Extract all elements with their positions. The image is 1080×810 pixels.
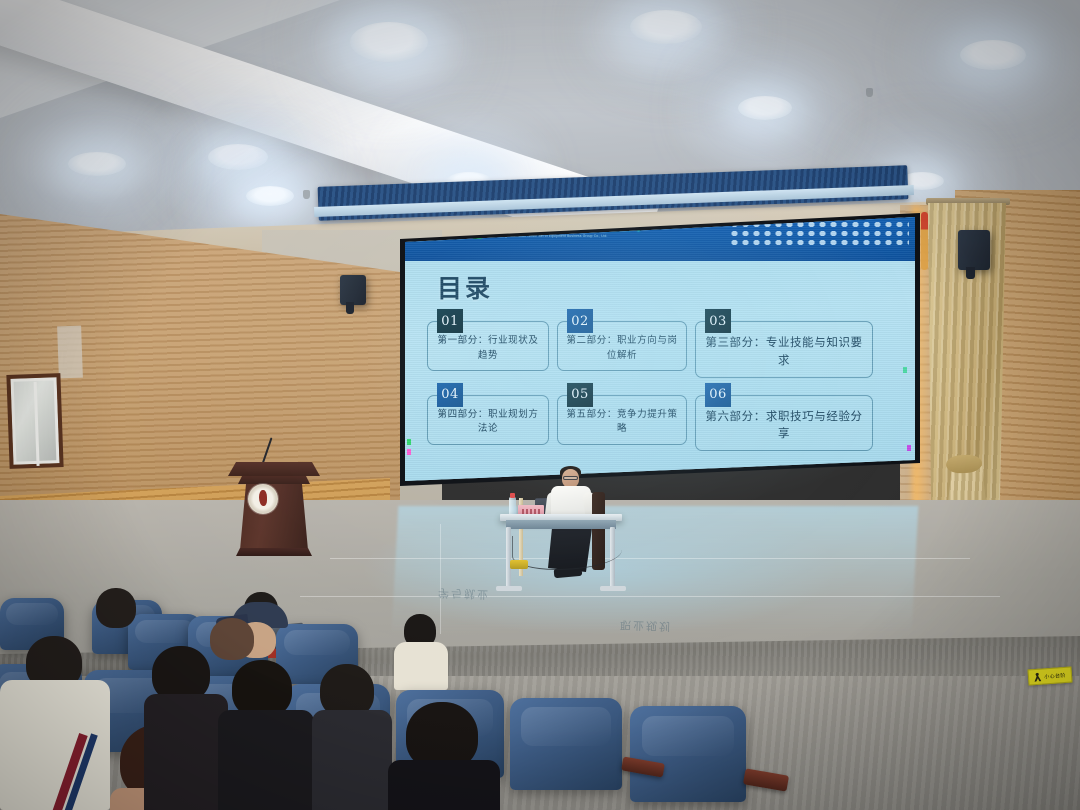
floor-seam [300,596,1000,597]
led-screen[interactable]: 4WK2HY 昆明自动化成套集团股份有限公司 Kunming Automatio… [405,217,915,481]
side-window [6,373,63,469]
toc-item[interactable]: 05 第五部分：竞争力提升策略 [557,383,687,452]
audience-body [218,710,314,810]
ceiling-light-icon [208,144,268,170]
toc-number: 05 [567,383,593,407]
ceiling-light-icon [738,96,792,120]
presentation-slide: 4WK2HY 昆明自动化成套集团股份有限公司 Kunming Automatio… [405,217,915,481]
toc-number: 03 [705,309,731,333]
seat[interactable] [510,698,622,790]
floor-reflected-text: 学与就业 [438,585,491,603]
toc-label: 第三部分：专业技能与知识要求 [702,334,866,370]
podium-top [228,462,320,476]
caution-icon [1034,672,1043,682]
desk-foot [600,586,626,591]
screen-pixel-artifact [907,445,911,451]
floor-seam [330,558,970,559]
wall-speaker-right [958,230,990,270]
ceiling-light-icon [960,40,1026,70]
toc-item[interactable]: 01 第一部分：行业现状及趋势 [427,309,549,378]
podium-neck [238,476,310,484]
toc-number: 02 [567,309,593,333]
podium-emblem-icon [248,484,278,514]
screen-pixel-artifact [903,367,907,373]
ceiling-light-icon [630,10,702,44]
wall-patch [57,326,83,379]
screen-pixel-artifact [407,439,411,445]
toc-number: 06 [705,383,731,407]
glasses-icon [563,476,578,480]
floor-seam [440,524,441,634]
toc-label: 第六部分：求职技巧与经验分享 [702,408,866,444]
audience-body [394,642,448,690]
audience-head [210,618,254,660]
audience-body [388,760,500,810]
decorative-tassel [921,212,928,270]
toc-label: 第二部分：职业方向与岗位解析 [564,334,680,363]
toc-item[interactable]: 03 第三部分：专业技能与知识要求 [695,309,873,378]
toc-item[interactable]: 02 第二部分：职业方向与岗位解析 [557,309,687,378]
sprinkler-icon [866,88,873,97]
podium-base [236,548,312,556]
desk-leg [506,527,511,589]
caution-step-sign: 小心台阶 [1027,666,1072,685]
lecture-hall-photo: 4WK2HY 昆明自动化成套集团股份有限公司 Kunming Automatio… [0,0,1080,810]
ceiling-light-icon [350,22,428,62]
toc-item[interactable]: 06 第六部分：求职技巧与经验分享 [695,383,873,452]
slide-title: 目录 [437,269,493,305]
toc-number: 01 [437,309,463,333]
desk-foot [496,586,522,591]
toc-number: 04 [437,383,463,407]
audience-body [312,710,392,810]
sprinkler-icon [303,190,310,199]
floor-reflection [392,506,919,634]
seat[interactable] [630,706,746,802]
caution-sign-label: 小心台阶 [1044,671,1066,679]
screen-pixel-artifact [407,449,411,455]
ceiling-light-icon [246,186,294,206]
audience-head [96,588,136,628]
wall-speaker-left [340,275,366,305]
table-of-contents: 01 第一部分：行业现状及趋势 02 第二部分：职业方向与岗位解析 03 第三部… [427,309,897,451]
toc-item[interactable]: 04 第四部分：职业规划方法论 [427,383,549,452]
floor-power-box [510,560,528,569]
toc-label: 第五部分：竞争力提升策略 [564,408,680,437]
desk-apron [506,520,616,529]
floor-reflected-text: 职业规划 [620,617,673,635]
toc-label: 第一部分：行业现状及趋势 [434,334,542,363]
audience-body [144,694,228,810]
toc-label: 第四部分：职业规划方法论 [434,408,542,437]
ceiling-light-icon [68,152,126,176]
